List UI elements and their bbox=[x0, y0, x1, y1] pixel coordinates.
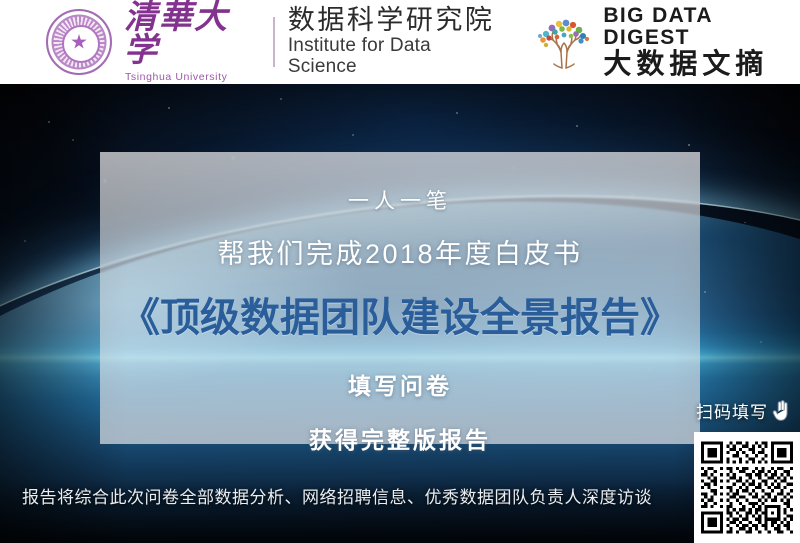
colorful-tree-logo-icon bbox=[535, 14, 593, 70]
report-title: 《顶级数据团队建设全景报告》 bbox=[120, 285, 680, 343]
bigdata-name-cn: 大数据文摘 bbox=[603, 49, 800, 78]
content-panel: 一人一笔 帮我们完成2018年度白皮书 《顶级数据团队建设全景报告》 填写问卷 … bbox=[100, 152, 700, 444]
tsinghua-logo-group: 清華大学 Tsinghua University 数据科学研究院 Institu… bbox=[46, 2, 499, 83]
action-line-2: 获得完整版报告 bbox=[309, 421, 491, 455]
qr-label-group: 扫码填写 bbox=[696, 398, 792, 423]
qr-code-icon[interactable] bbox=[701, 439, 793, 536]
seal-star-icon bbox=[71, 34, 87, 50]
poster-canvas: 清華大学 Tsinghua University 数据科学研究院 Institu… bbox=[0, 0, 800, 543]
bigdata-name-block: BIG DATA DIGEST 大数据文摘 bbox=[603, 5, 800, 78]
qr-code-frame[interactable] bbox=[694, 432, 800, 543]
action-line-1: 填写问卷 bbox=[348, 367, 452, 401]
qr-label-text: 扫码填写 bbox=[696, 398, 768, 423]
header-bar: 清華大学 Tsinghua University 数据科学研究院 Institu… bbox=[0, 0, 800, 84]
tsinghua-name-en: Tsinghua University bbox=[125, 71, 260, 83]
institute-name-block: 数据科学研究院 Institute for Data Science bbox=[288, 6, 500, 78]
tsinghua-name-block: 清華大学 Tsinghua University bbox=[112, 2, 260, 83]
institute-name-en: Institute for Data Science bbox=[288, 36, 500, 78]
institute-name-cn: 数据科学研究院 bbox=[288, 6, 500, 34]
footer-caption: 报告将综合此次问卷全部数据分析、网络招聘信息、优秀数据团队负责人深度访谈 bbox=[22, 483, 652, 508]
subtitle-text: 帮我们完成2018年度白皮书 bbox=[217, 232, 582, 271]
tsinghua-seal-icon bbox=[46, 9, 112, 75]
logo-divider bbox=[273, 17, 275, 67]
tsinghua-name-cn: 清華大学 bbox=[124, 2, 260, 68]
bigdata-digest-logo-group: BIG DATA DIGEST 大数据文摘 bbox=[535, 5, 800, 78]
pointing-hand-icon bbox=[770, 399, 792, 423]
tagline-text: 一人一笔 bbox=[348, 185, 452, 215]
bigdata-name-en: BIG DATA DIGEST bbox=[603, 5, 800, 49]
